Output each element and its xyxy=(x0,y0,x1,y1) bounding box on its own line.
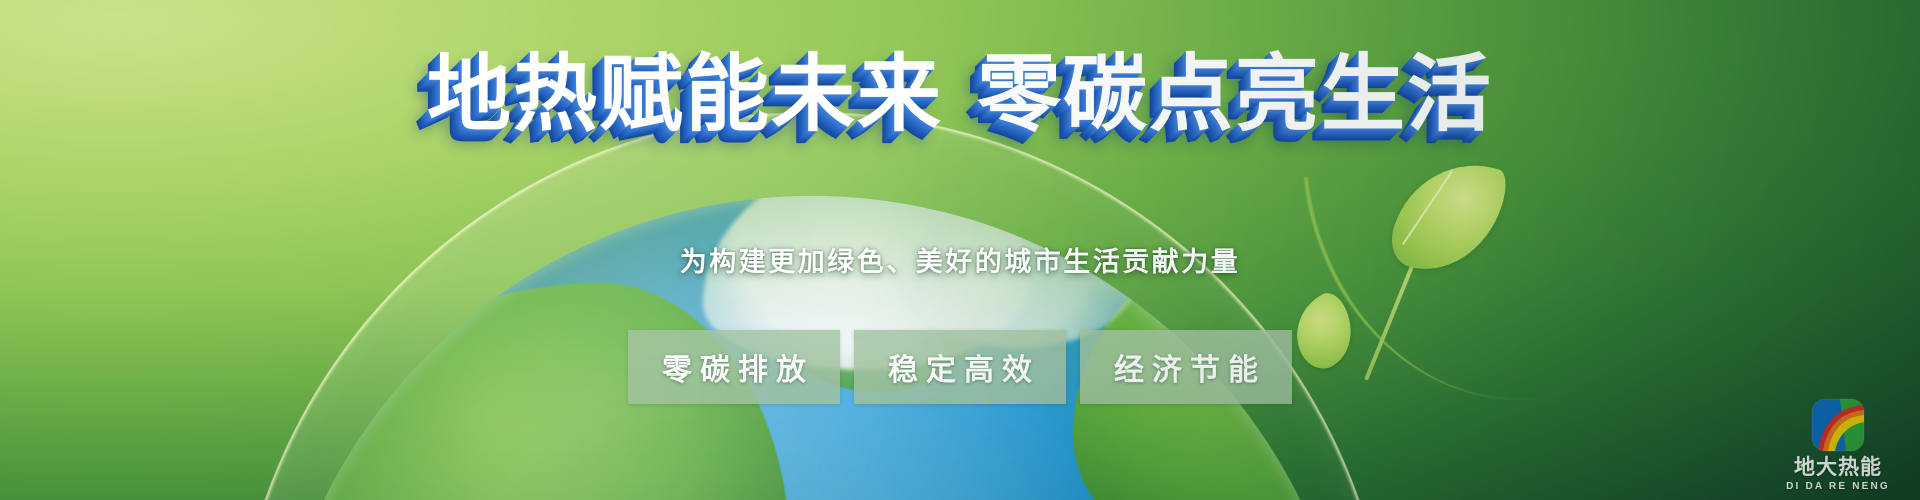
feature-badge-stable-efficient[interactable]: 稳定高效 xyxy=(854,330,1066,404)
company-logo[interactable]: 地大热能 DI DA RE NENG xyxy=(1778,397,1898,492)
promo-banner: 地热赋能未来零碳点亮生活 为构建更加绿色、美好的城市生活贡献力量 零碳排放 稳定… xyxy=(0,0,1920,500)
feature-badge-economical[interactable]: 经济节能 xyxy=(1080,330,1292,404)
feature-badge-list: 零碳排放 稳定高效 经济节能 xyxy=(0,330,1920,404)
headline-part-2: 零碳点亮生活 xyxy=(977,47,1493,141)
rainbow-swoosh-icon xyxy=(1810,397,1866,453)
headline-part-1: 地热赋能未来 xyxy=(427,47,943,141)
company-logo-name: 地大热能 xyxy=(1778,457,1898,479)
banner-headline: 地热赋能未来零碳点亮生活 xyxy=(0,52,1920,136)
feature-badge-zero-carbon[interactable]: 零碳排放 xyxy=(628,330,840,404)
company-logo-pinyin: DI DA RE NENG xyxy=(1778,481,1898,492)
banner-subtitle: 为构建更加绿色、美好的城市生活贡献力量 xyxy=(0,240,1920,279)
